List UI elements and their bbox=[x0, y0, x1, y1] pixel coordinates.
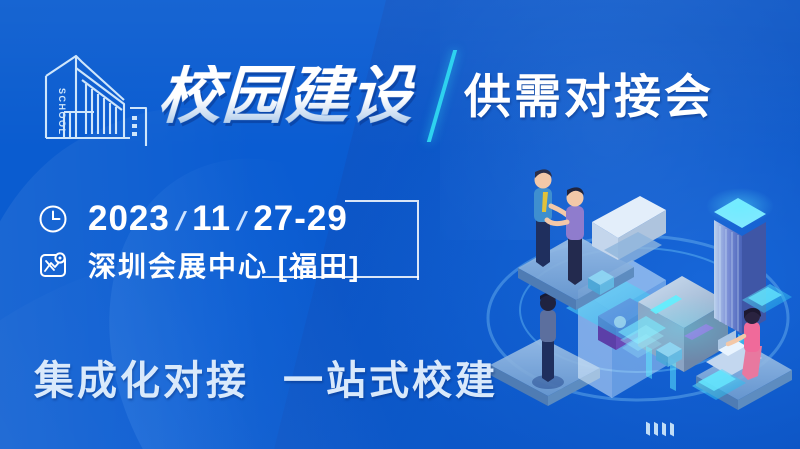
cyan-slash-divider bbox=[427, 50, 457, 142]
school-building-icon: SCHOOL bbox=[34, 46, 152, 146]
banner-header: SCHOOL 校园建设 供需对接会 bbox=[34, 44, 714, 148]
event-info-block: 2023/11/27-29 深圳会展中心 [福田] bbox=[38, 196, 360, 288]
event-date-row: 2023/11/27-29 bbox=[38, 196, 360, 242]
school-label: SCHOOL bbox=[57, 88, 67, 136]
event-venue-row: 深圳会展中心 [福田] bbox=[38, 242, 360, 288]
map-pin-icon bbox=[38, 250, 68, 280]
clock-icon bbox=[38, 204, 68, 234]
banner-title-main: 校园建设 bbox=[156, 65, 415, 128]
date-separator-2: / bbox=[234, 206, 251, 237]
banner-slogan: 集成化对接一站式校建 bbox=[34, 348, 498, 406]
date-separator-1: / bbox=[172, 206, 189, 237]
slogan-part-1: 集成化对接 bbox=[34, 359, 249, 403]
slogan-part-2: 一站式校建 bbox=[283, 359, 498, 403]
event-venue-text: 深圳会展中心 [福田] bbox=[88, 245, 360, 285]
event-days: 27-29 bbox=[253, 199, 348, 238]
event-banner: SCHOOL 校园建设 供需对接会 2023/11/27-29 bbox=[0, 0, 800, 449]
event-date-text: 2023/11/27-29 bbox=[88, 199, 348, 239]
event-year: 2023 bbox=[88, 199, 170, 238]
banner-title-sub: 供需对接会 bbox=[464, 73, 714, 120]
isometric-smart-campus-illustration bbox=[470, 150, 800, 440]
event-month: 11 bbox=[192, 199, 231, 238]
